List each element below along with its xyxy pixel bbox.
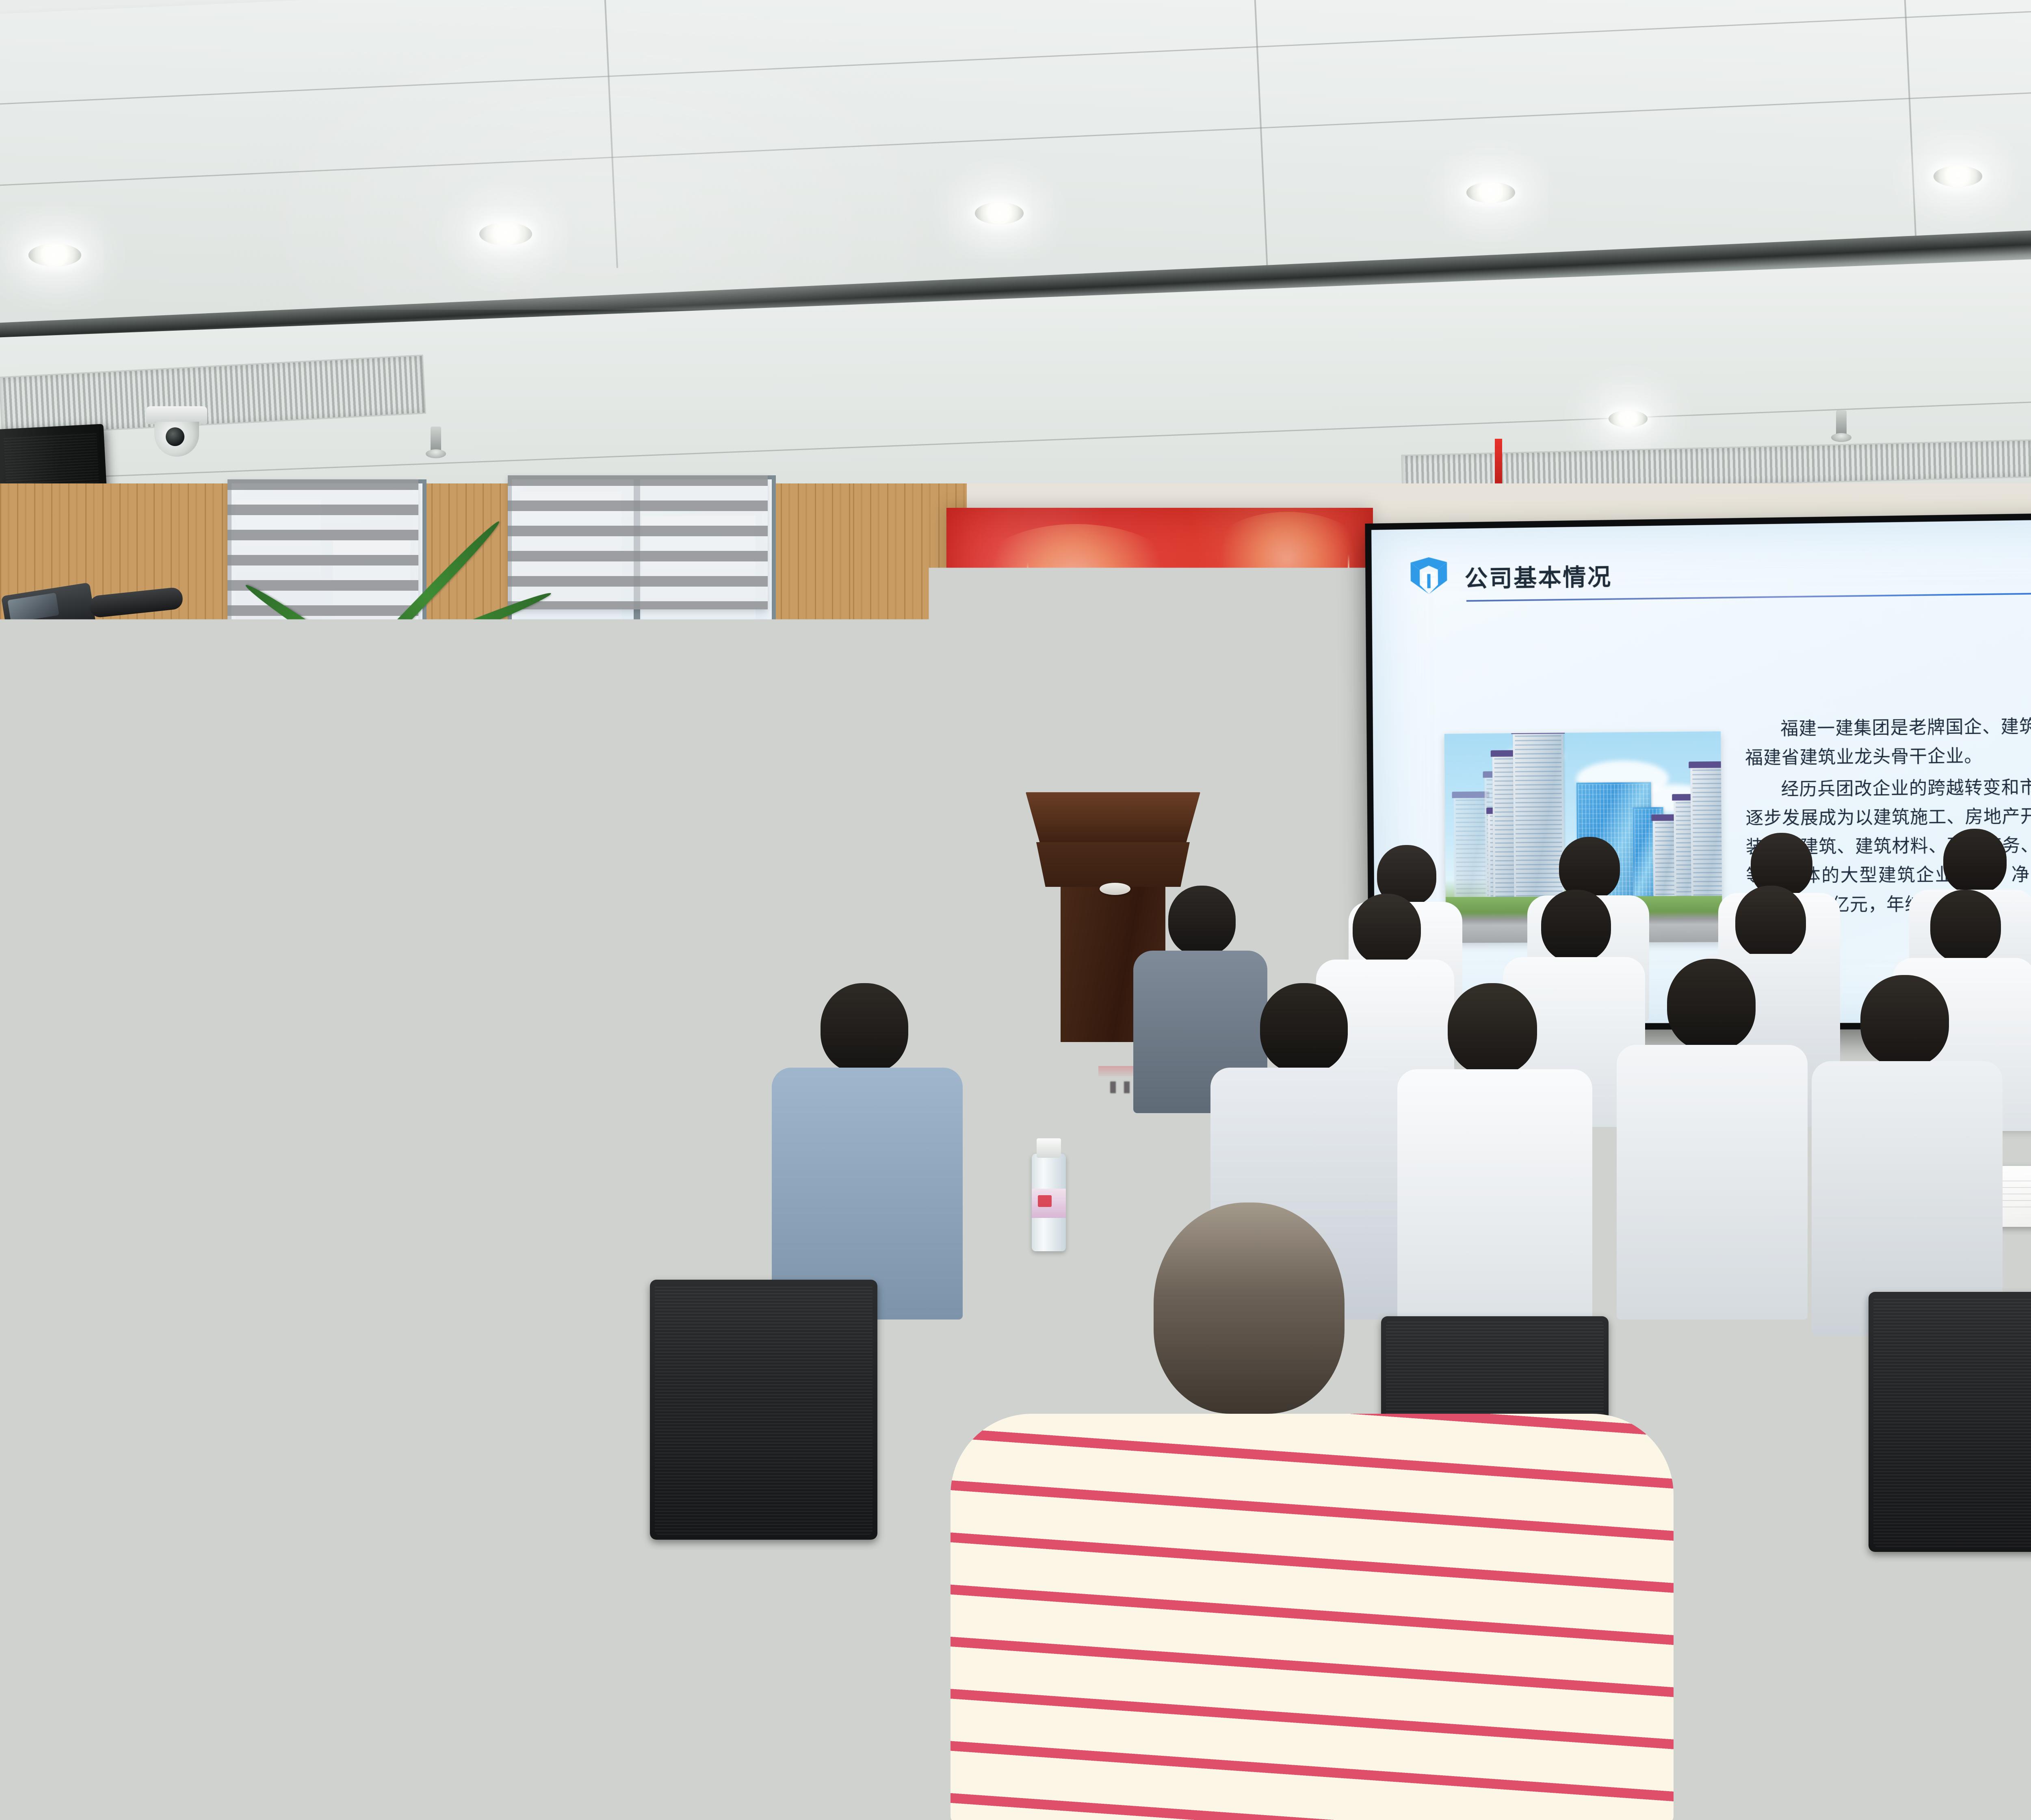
right-tower bbox=[1653, 820, 1677, 897]
downlight-icon bbox=[479, 223, 532, 245]
downlight-icon bbox=[975, 202, 1024, 224]
video-camera-rig bbox=[0, 561, 248, 1170]
audience-person bbox=[772, 983, 963, 1316]
water-bottle bbox=[735, 1162, 769, 1259]
foreground-person-right bbox=[2015, 1178, 2031, 1820]
presenter-person bbox=[1040, 597, 1194, 808]
slide-header: 公司基本情况 bbox=[1408, 542, 2031, 602]
slide-paragraph-1: 福建一建集团是老牌国企、建筑铁军，是具有特级资质的福建省建筑业龙头骨干企业。 bbox=[1745, 710, 2031, 773]
chair bbox=[1869, 1292, 2031, 1552]
presenter-hand bbox=[1112, 731, 1147, 766]
slide-title: 公司基本情况 bbox=[1464, 558, 1612, 594]
security-camera-icon bbox=[146, 406, 207, 454]
chair bbox=[650, 1280, 877, 1540]
eyeglasses-icon bbox=[1090, 636, 1145, 651]
audience-person bbox=[1812, 975, 2003, 1332]
company-shield-logo-icon bbox=[1408, 555, 1449, 598]
downlight-icon bbox=[28, 244, 81, 266]
face-mask-icon bbox=[414, 1016, 446, 1052]
tripod-leg bbox=[41, 786, 150, 1143]
namecard bbox=[191, 1341, 316, 1411]
face-mask-icon bbox=[666, 1052, 699, 1090]
downlight-icon bbox=[1609, 410, 1648, 427]
right-tower-tall bbox=[1690, 767, 1722, 897]
conference-room-photo: ❦ 推动中国制造向中国创 造转变，中国速度向中国质 量转变，中国产品向中国品 牌… bbox=[0, 0, 2031, 1820]
foreground-person-striped bbox=[951, 1202, 1674, 1820]
shotgun-microphone-icon bbox=[89, 587, 184, 618]
audience-person bbox=[386, 967, 556, 1276]
podium-badge bbox=[1100, 883, 1130, 895]
chair bbox=[260, 1552, 520, 1763]
downlight-icon bbox=[1466, 182, 1515, 203]
foreground-person-left bbox=[0, 1097, 203, 1820]
sprinkler-icon bbox=[431, 427, 441, 453]
audience-person bbox=[544, 999, 727, 1316]
camera-lens-icon bbox=[122, 646, 187, 711]
ceiling bbox=[0, 0, 2031, 536]
face-mask-icon bbox=[0, 1170, 37, 1231]
downlight-icon bbox=[1934, 166, 1982, 187]
sprinkler-icon bbox=[1836, 410, 1847, 436]
